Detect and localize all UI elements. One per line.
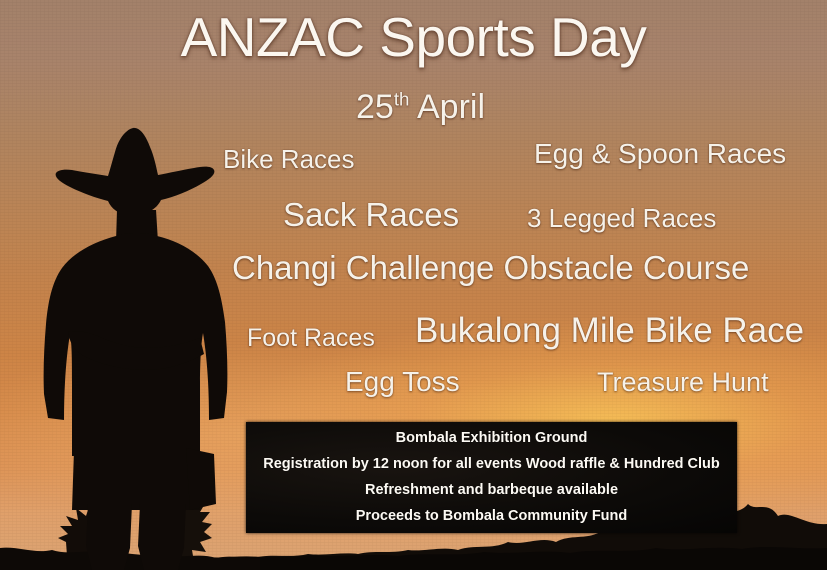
page-title: ANZAC Sports Day (0, 10, 827, 65)
event-date-month: April (417, 88, 485, 126)
registration-text: Registration by 12 noon for all events W… (246, 451, 737, 477)
event-egg-toss: Egg Toss (345, 368, 460, 396)
anzac-soldier-silhouette (28, 118, 243, 570)
event-treasure-hunt: Treasure Hunt (597, 369, 769, 396)
event-details-box: Bombala Exhibition Ground Registration b… (246, 422, 737, 533)
refreshments-text: Refreshment and barbeque available (246, 477, 737, 503)
event-date-ordinal: th (394, 89, 410, 110)
event-3-legged-races: 3 Legged Races (527, 205, 716, 231)
event-date-day: 25 (356, 88, 394, 126)
proceeds-text: Proceeds to Bombala Community Fund (246, 503, 737, 529)
anzac-sports-day-poster: ANZAC Sports Day 25th April Bike Races E… (0, 0, 827, 570)
event-date: 25th April (0, 90, 827, 124)
event-foot-races: Foot Races (247, 326, 375, 351)
event-bukalong-mile-bike-race: Bukalong Mile Bike Race (415, 313, 804, 348)
event-changi-challenge-obstacle-course: Changi Challenge Obstacle Course (232, 251, 749, 284)
event-egg-and-spoon-races: Egg & Spoon Races (534, 140, 786, 168)
event-bike-races: Bike Races (223, 146, 355, 172)
event-sack-races: Sack Races (283, 198, 459, 231)
venue-text: Bombala Exhibition Ground (246, 425, 737, 451)
